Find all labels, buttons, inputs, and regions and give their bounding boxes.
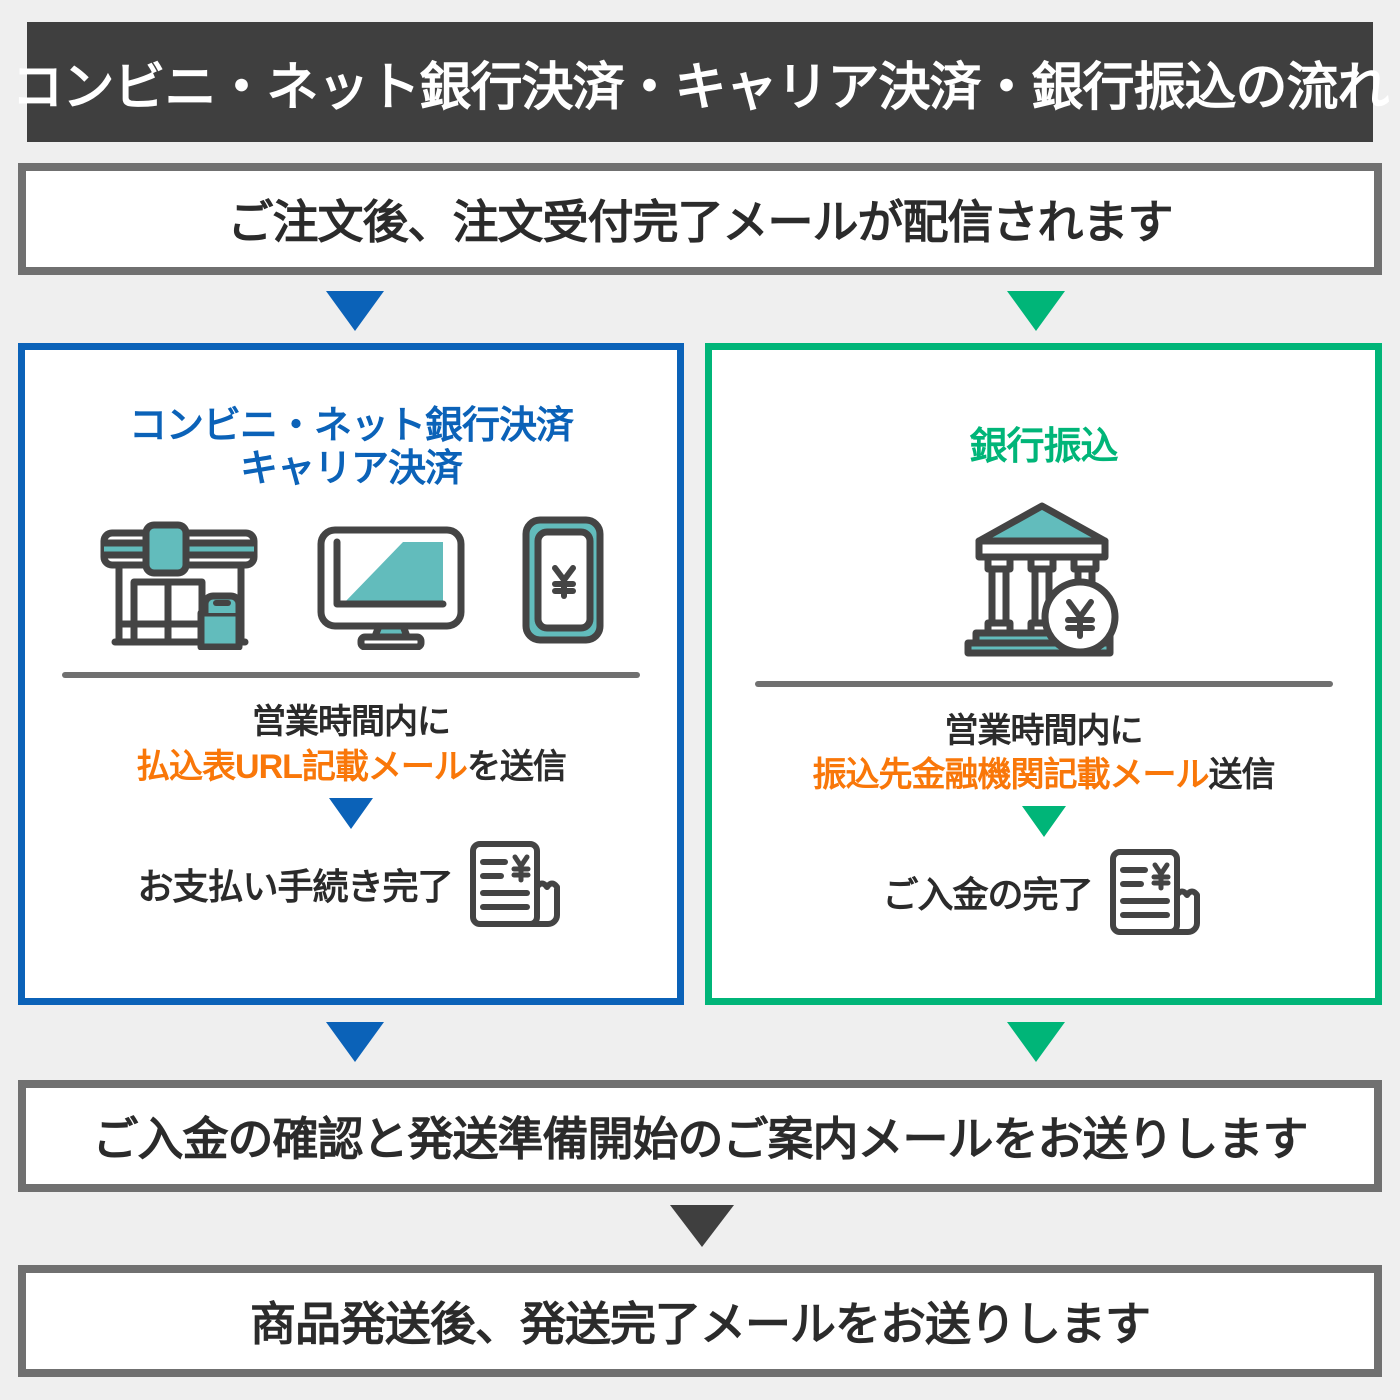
method-final-label-bank: ご入金の完了 — [882, 866, 1092, 918]
flow-diagram: コンビニ・ネット銀行決済・キャリア決済・銀行振込の流れ ご注文後、注文受付完了メ… — [0, 0, 1400, 1400]
method-final-conveni: お支払い手続き完了 — [25, 835, 677, 933]
method-icon-row-conveni — [25, 520, 677, 650]
method-note-highlight-conveni: 払込表URL記載メール — [136, 748, 467, 786]
step-order-received-label: ご注文後、注文受付完了メールが配信されます — [228, 186, 1173, 252]
down-arrow-icon-confirm-to-shipped — [670, 1205, 734, 1247]
method-note-suffix-bank: 送信 — [1209, 756, 1275, 794]
step-payment-confirmed: ご入金の確認と発送準備開始のご案内メールをお送りします — [18, 1080, 1382, 1192]
method-heading-conveni: コンビニ・ネット銀行決済 キャリア決済 — [25, 405, 677, 490]
page-title-bar: コンビニ・ネット銀行決済・キャリア決済・銀行振込の流れ — [27, 22, 1373, 142]
desktop-monitor-icon — [311, 520, 471, 650]
method-note-line1-bank: 営業時間内に — [712, 709, 1375, 754]
page-title: コンビニ・ネット銀行決済・キャリア決済・銀行振込の流れ — [12, 45, 1389, 120]
method-final-label-conveni: お支払い手続き完了 — [137, 858, 452, 910]
method-note-highlight-bank: 振込先金融機関記載メール — [813, 756, 1209, 794]
step-shipped-label: 商品発送後、発送完了メールをお送りします — [250, 1288, 1150, 1354]
method-panel-bank: 銀行振込 — [705, 343, 1382, 1005]
down-arrow-icon-order-to-conveni — [326, 291, 384, 331]
down-arrow-icon-conveni-to-confirm — [326, 1022, 384, 1062]
step-shipped: 商品発送後、発送完了メールをお送りします — [18, 1265, 1382, 1377]
down-arrow-icon-conveni-step — [329, 798, 373, 829]
down-arrow-icon-bank-step — [1022, 806, 1066, 837]
method-note-conveni: 営業時間内に 払込表URL記載メールを送信 — [25, 700, 677, 790]
down-arrow-icon-bank-to-confirm — [1007, 1022, 1065, 1062]
receipt-yen-icon — [1101, 843, 1205, 941]
method-final-bank: ご入金の完了 — [712, 843, 1375, 941]
method-panel-conveni: コンビニ・ネット銀行決済 キャリア決済 — [18, 343, 684, 1005]
panel-arrow-wrap-conveni — [25, 798, 677, 829]
method-heading-bank: 銀行振込 — [712, 426, 1375, 469]
step-payment-confirmed-label: ご入金の確認と発送準備開始のご案内メールをお送りします — [93, 1103, 1308, 1169]
method-note-bank: 営業時間内に 振込先金融機関記載メール送信 — [712, 709, 1375, 799]
panel-divider-conveni — [62, 672, 640, 678]
method-note-line1-conveni: 営業時間内に — [25, 700, 677, 745]
method-note-suffix-conveni: を送信 — [467, 748, 566, 786]
smartphone-yen-icon — [513, 510, 613, 650]
method-icon-row-bank — [712, 499, 1375, 659]
panel-arrow-wrap-bank — [712, 806, 1375, 837]
step-order-received: ご注文後、注文受付完了メールが配信されます — [18, 163, 1382, 275]
panel-divider-bank — [755, 681, 1333, 687]
down-arrow-icon-order-to-bank — [1007, 291, 1065, 331]
receipt-yen-icon — [461, 835, 565, 933]
convenience-store-icon — [89, 520, 269, 650]
bank-building-yen-icon — [954, 499, 1134, 659]
